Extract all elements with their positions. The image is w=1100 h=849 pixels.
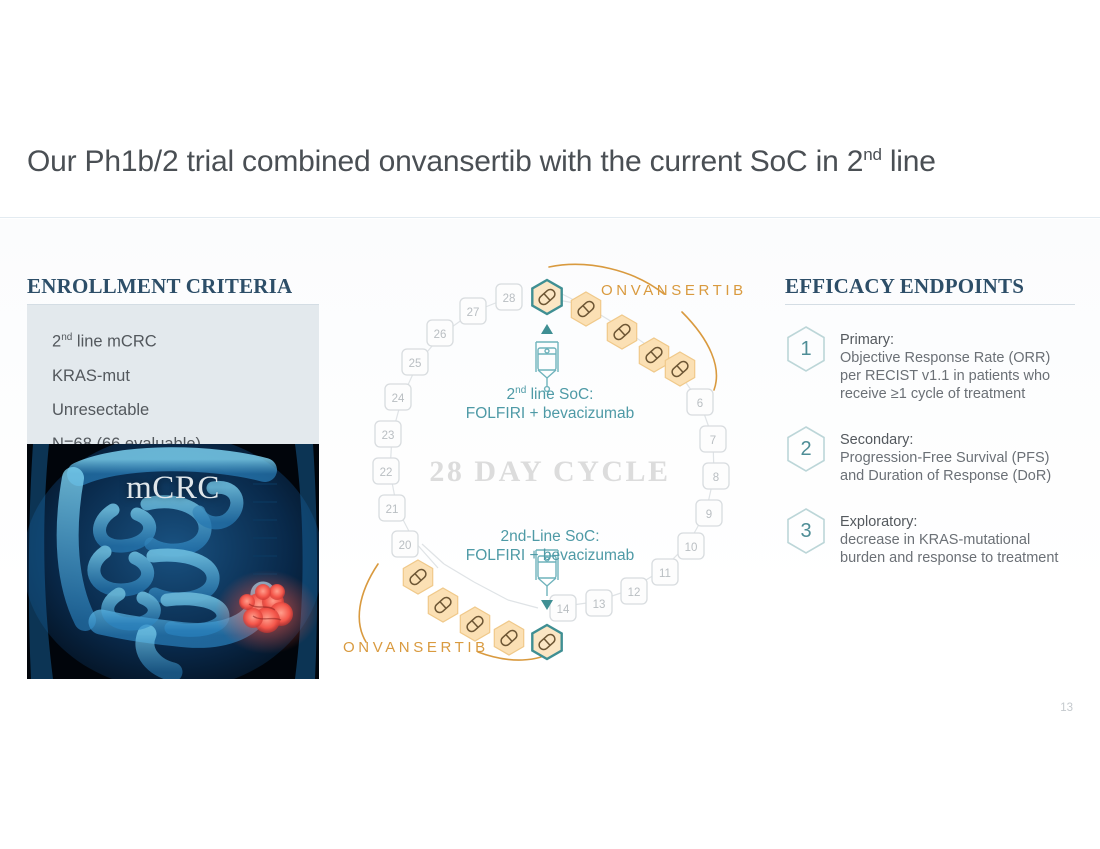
soc-top-text: 2 [507, 386, 516, 403]
svg-text:11: 11 [659, 568, 671, 580]
criteria-text: Unresectable [52, 401, 149, 419]
onvansertib-label-bottom: ONVANSERTIB [343, 639, 489, 656]
pill-hex-day-16 [494, 621, 523, 655]
svg-text:25: 25 [409, 358, 422, 370]
criteria-superscript: nd [61, 332, 72, 343]
list-item: 2 Secondary: Progression-Free Survival (… [785, 425, 1075, 485]
svg-text:7: 7 [710, 435, 716, 447]
endpoint-badge: 3 [785, 507, 827, 555]
day-node-12: 12 [621, 578, 647, 604]
criteria-text: KRAS-mut [52, 367, 130, 385]
endpoint-text: Secondary: Progression-Free Survival (PF… [840, 425, 1075, 485]
day-node-14: 14 [550, 595, 576, 621]
soc-top-superscript: nd [515, 385, 526, 396]
pill-hex-day-19 [403, 560, 432, 594]
endpoint-description: Progression-Free Survival (PFS) and Dura… [840, 449, 1075, 485]
day-node-27: 27 [460, 298, 486, 324]
treatment-cycle-diagram: .ring { fill:none; stroke:#dfe3e6; strok… [330, 250, 770, 680]
pill-hex-day-1 [532, 280, 561, 314]
soc-bottom-regimen: FOLFIRI + bevacizumab [466, 547, 634, 564]
svg-text:9: 9 [706, 509, 712, 521]
day-node-7: 7 [700, 426, 726, 452]
title-text-tail: line [882, 145, 936, 178]
pill-hex-day-2 [571, 292, 600, 326]
svg-text:28: 28 [503, 293, 516, 305]
day-node-9: 9 [696, 500, 722, 526]
day-node-28: 28 [496, 284, 522, 310]
svg-text:27: 27 [467, 307, 480, 319]
day-node-23: 23 [375, 421, 401, 447]
endpoint-description: Objective Response Rate (ORR) per RECIST… [840, 349, 1075, 403]
soc-label-top: 2nd line SoC: FOLFIRI + bevacizumab [330, 381, 770, 423]
svg-text:23: 23 [382, 430, 395, 442]
list-item: 3 Exploratory: decrease in KRAS-mutation… [785, 507, 1075, 567]
page-number: 13 [1060, 702, 1073, 714]
efficacy-endpoints-heading: EFFICACY ENDPOINTS [785, 274, 1075, 304]
soc-top-regimen: FOLFIRI + bevacizumab [466, 405, 634, 422]
svg-text:14: 14 [557, 604, 570, 616]
svg-text:12: 12 [628, 587, 641, 599]
endpoint-number: 2 [785, 425, 827, 473]
list-item: Unresectable [52, 393, 319, 427]
list-item: 2nd line mCRC [52, 321, 319, 359]
title-superscript: nd [863, 145, 882, 164]
endpoint-title: Secondary: [840, 431, 1075, 449]
endpoint-description: decrease in KRAS-mutational burden and r… [840, 531, 1075, 567]
page-title: Our Ph1b/2 trial combined onvansertib wi… [27, 145, 936, 179]
endpoint-badge: 1 [785, 325, 827, 373]
pill-hex-day-15 [532, 625, 561, 659]
slide: Our Ph1b/2 trial combined onvansertib wi… [0, 0, 1100, 849]
endpoint-title: Primary: [840, 331, 1075, 349]
pill-hex-day-3 [607, 315, 636, 349]
endpoint-number: 3 [785, 507, 827, 555]
endpoints-list: 1 Primary: Objective Response Rate (ORR)… [785, 325, 1075, 567]
criteria-list: 2nd line mCRC KRAS-mut Unresectable N=68… [27, 305, 319, 444]
mcrc-image-label: mCRC [27, 470, 319, 507]
svg-text:26: 26 [434, 329, 447, 341]
endpoint-text: Exploratory: decrease in KRAS-mutational… [840, 507, 1075, 567]
day-node-21: 21 [379, 495, 405, 521]
svg-text:21: 21 [386, 504, 399, 516]
day-node-25: 25 [402, 349, 428, 375]
enrollment-criteria-panel: ENROLLMENT CRITERIA 2nd line mCRC KRAS-m… [27, 274, 319, 679]
slide-header: Our Ph1b/2 trial combined onvansertib wi… [0, 0, 1100, 218]
endpoint-badge: 2 [785, 425, 827, 473]
soc-bottom-text: 2nd-Line SoC: [500, 528, 599, 545]
day-node-13: 13 [586, 590, 612, 616]
endpoint-number: 1 [785, 325, 827, 373]
endpoint-title: Exploratory: [840, 513, 1075, 531]
svg-text:13: 13 [593, 599, 606, 611]
efficacy-endpoints-panel: EFFICACY ENDPOINTS 1 Primary: Objective … [785, 274, 1075, 589]
soc-label-bottom: 2nd-Line SoC: FOLFIRI + bevacizumab [330, 527, 770, 565]
endpoint-text: Primary: Objective Response Rate (ORR) p… [840, 325, 1075, 403]
onvansertib-label-top: ONVANSERTIB [601, 282, 747, 299]
soc-top-text-tail: line SoC: [526, 386, 593, 403]
enrollment-criteria-heading: ENROLLMENT CRITERIA [27, 274, 319, 304]
list-item: KRAS-mut [52, 359, 319, 393]
efficacy-endpoints-divider [785, 304, 1075, 305]
criteria-text-tail: line mCRC [72, 333, 156, 351]
pill-hex-day-18 [428, 588, 457, 622]
mcrc-illustration: mCRC [27, 444, 319, 679]
criteria-text: 2 [52, 333, 61, 351]
cycle-center-label: 28 DAY CYCLE [330, 455, 770, 489]
title-text-main: Our Ph1b/2 trial combined onvansertib wi… [27, 145, 863, 178]
pill-hex-day-17 [460, 607, 489, 641]
list-item: 1 Primary: Objective Response Rate (ORR)… [785, 325, 1075, 403]
day-node-26: 26 [427, 320, 453, 346]
